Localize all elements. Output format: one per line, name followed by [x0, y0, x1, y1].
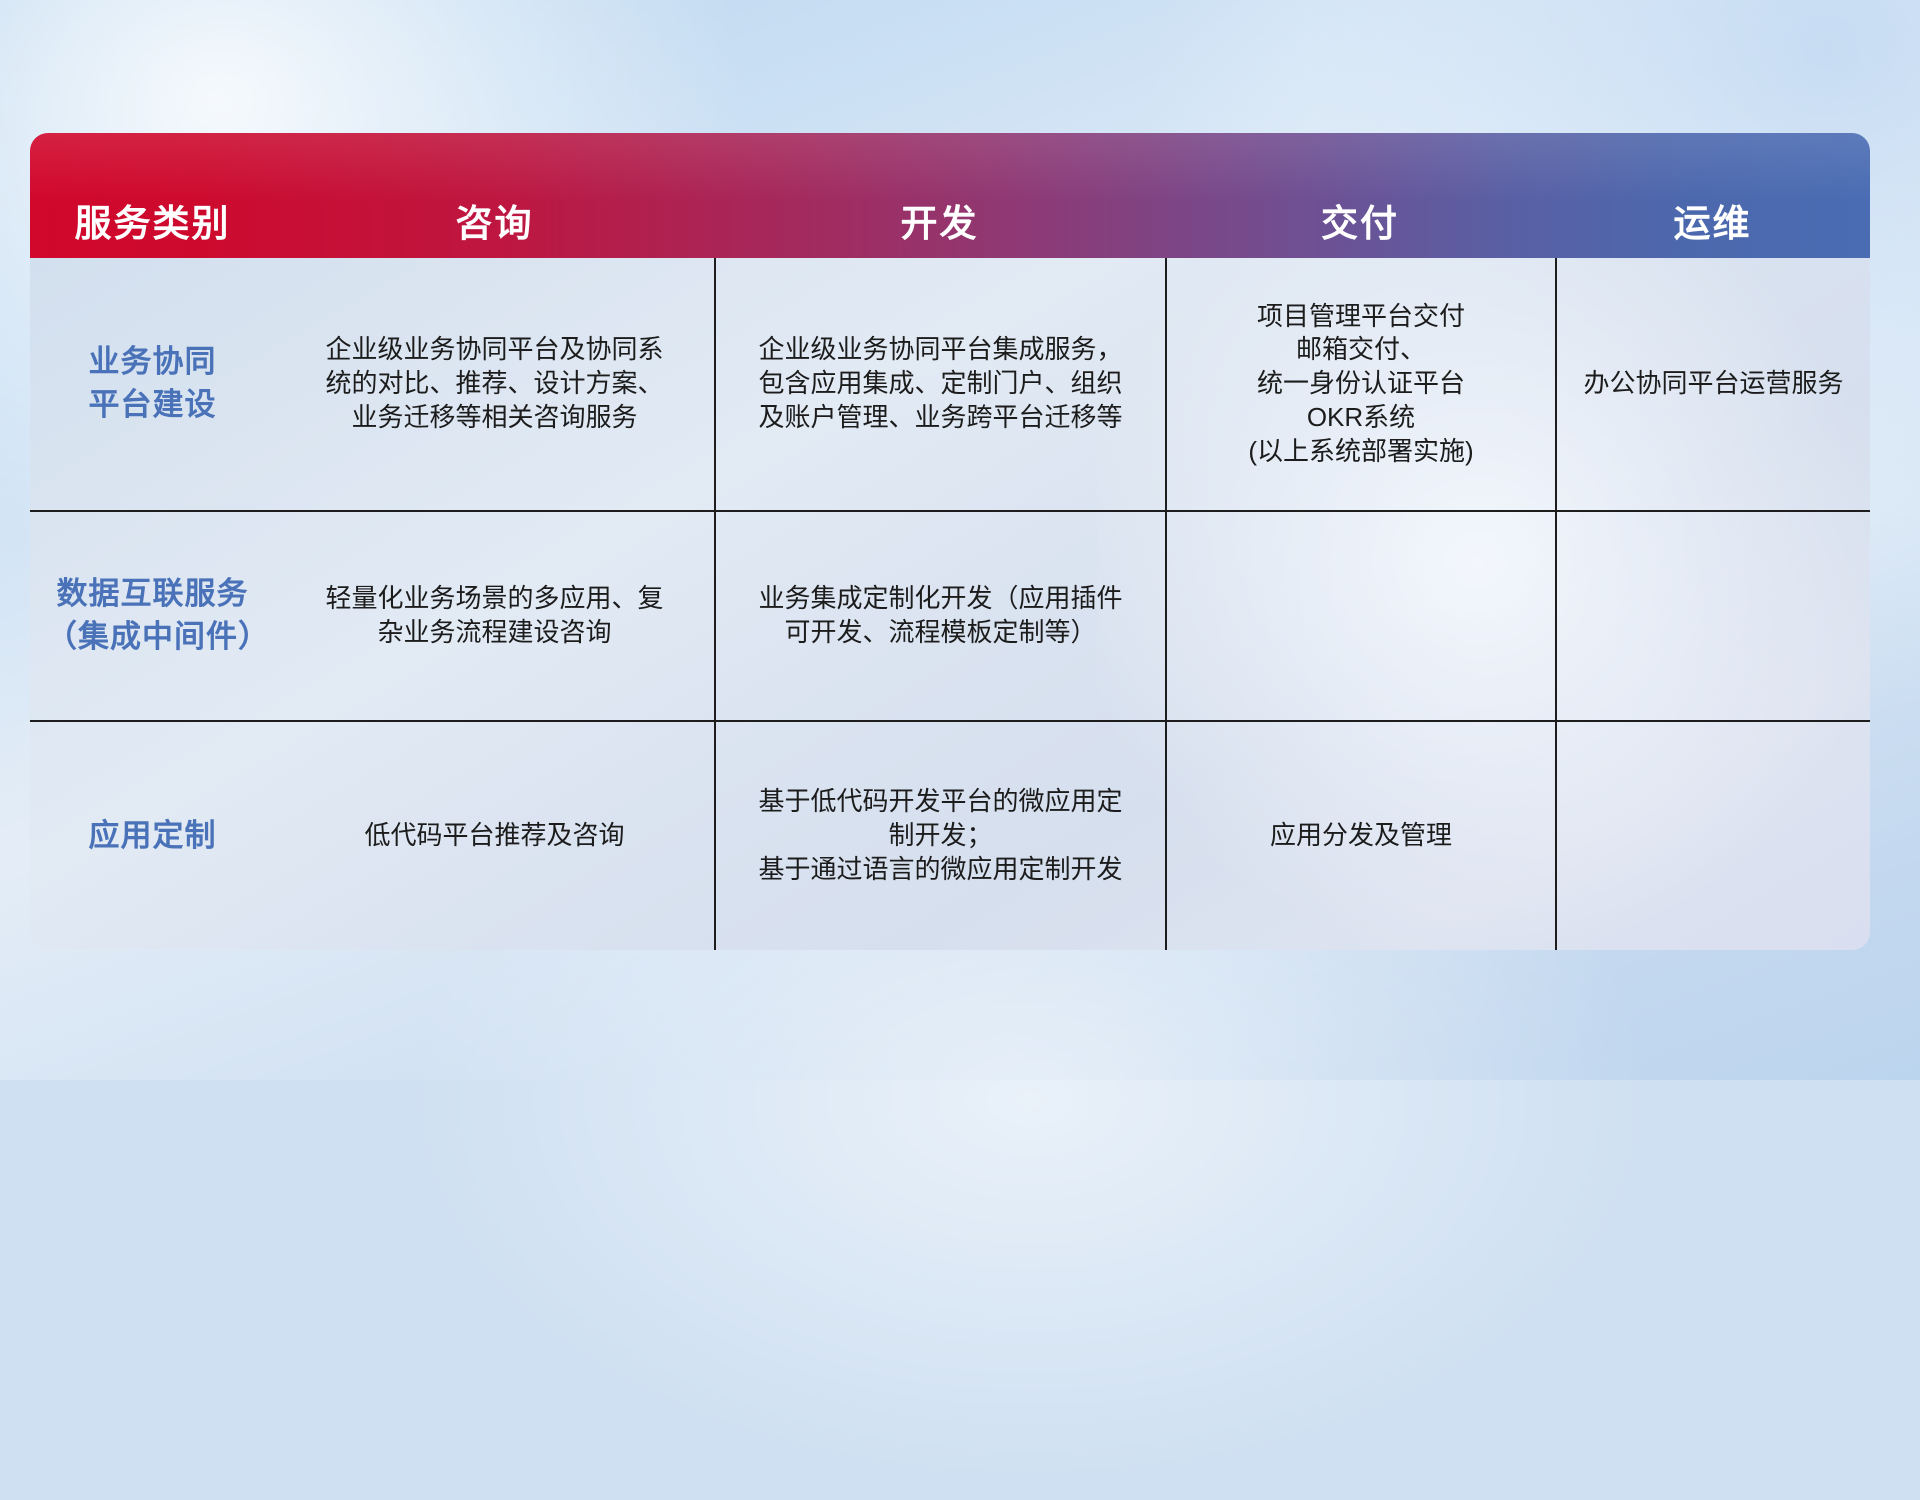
row-label-app-customization: 应用定制: [30, 722, 275, 950]
column-header-consulting: 咨询: [275, 205, 714, 242]
cell-operations: [1555, 512, 1870, 720]
service-matrix-table: 服务类别 咨询 开发 交付 运维 业务协同 平台建设 企业级业务协同平台及协同系…: [30, 133, 1870, 950]
cell-consulting: 低代码平台推荐及咨询: [275, 722, 714, 950]
table-row: 业务协同 平台建设 企业级业务协同平台及协同系 统的对比、推荐、设计方案、 业务…: [30, 258, 1870, 510]
cell-consulting: 企业级业务协同平台及协同系 统的对比、推荐、设计方案、 业务迁移等相关咨询服务: [275, 258, 714, 510]
table-body: 业务协同 平台建设 企业级业务协同平台及协同系 统的对比、推荐、设计方案、 业务…: [30, 258, 1870, 950]
column-header-service-category: 服务类别: [30, 205, 275, 242]
table-row: 应用定制 低代码平台推荐及咨询 基于低代码开发平台的微应用定 制开发； 基于通过…: [30, 720, 1870, 950]
cell-consulting: 轻量化业务场景的多应用、复 杂业务流程建设咨询: [275, 512, 714, 720]
cell-operations: 办公协同平台运营服务: [1555, 258, 1870, 510]
column-header-delivery: 交付: [1165, 205, 1555, 242]
table-header-row: 服务类别 咨询 开发 交付 运维: [30, 133, 1870, 258]
column-header-operations: 运维: [1555, 205, 1870, 242]
cell-delivery: 项目管理平台交付 邮箱交付、 统一身份认证平台 OKR系统 (以上系统部署实施): [1165, 258, 1555, 510]
cell-development: 企业级业务协同平台集成服务， 包含应用集成、定制门户、组织 及账户管理、业务跨平…: [714, 258, 1165, 510]
table-row: 数据互联服务 （集成中间件） 轻量化业务场景的多应用、复 杂业务流程建设咨询 业…: [30, 510, 1870, 720]
row-label-data-interconnect: 数据互联服务 （集成中间件）: [30, 512, 275, 720]
cell-operations: [1555, 722, 1870, 950]
cell-delivery: [1165, 512, 1555, 720]
column-header-development: 开发: [714, 205, 1165, 242]
cell-delivery: 应用分发及管理: [1165, 722, 1555, 950]
cell-development: 业务集成定制化开发（应用插件 可开发、流程模板定制等）: [714, 512, 1165, 720]
cell-development: 基于低代码开发平台的微应用定 制开发； 基于通过语言的微应用定制开发: [714, 722, 1165, 950]
row-label-business-collaboration: 业务协同 平台建设: [30, 258, 275, 510]
